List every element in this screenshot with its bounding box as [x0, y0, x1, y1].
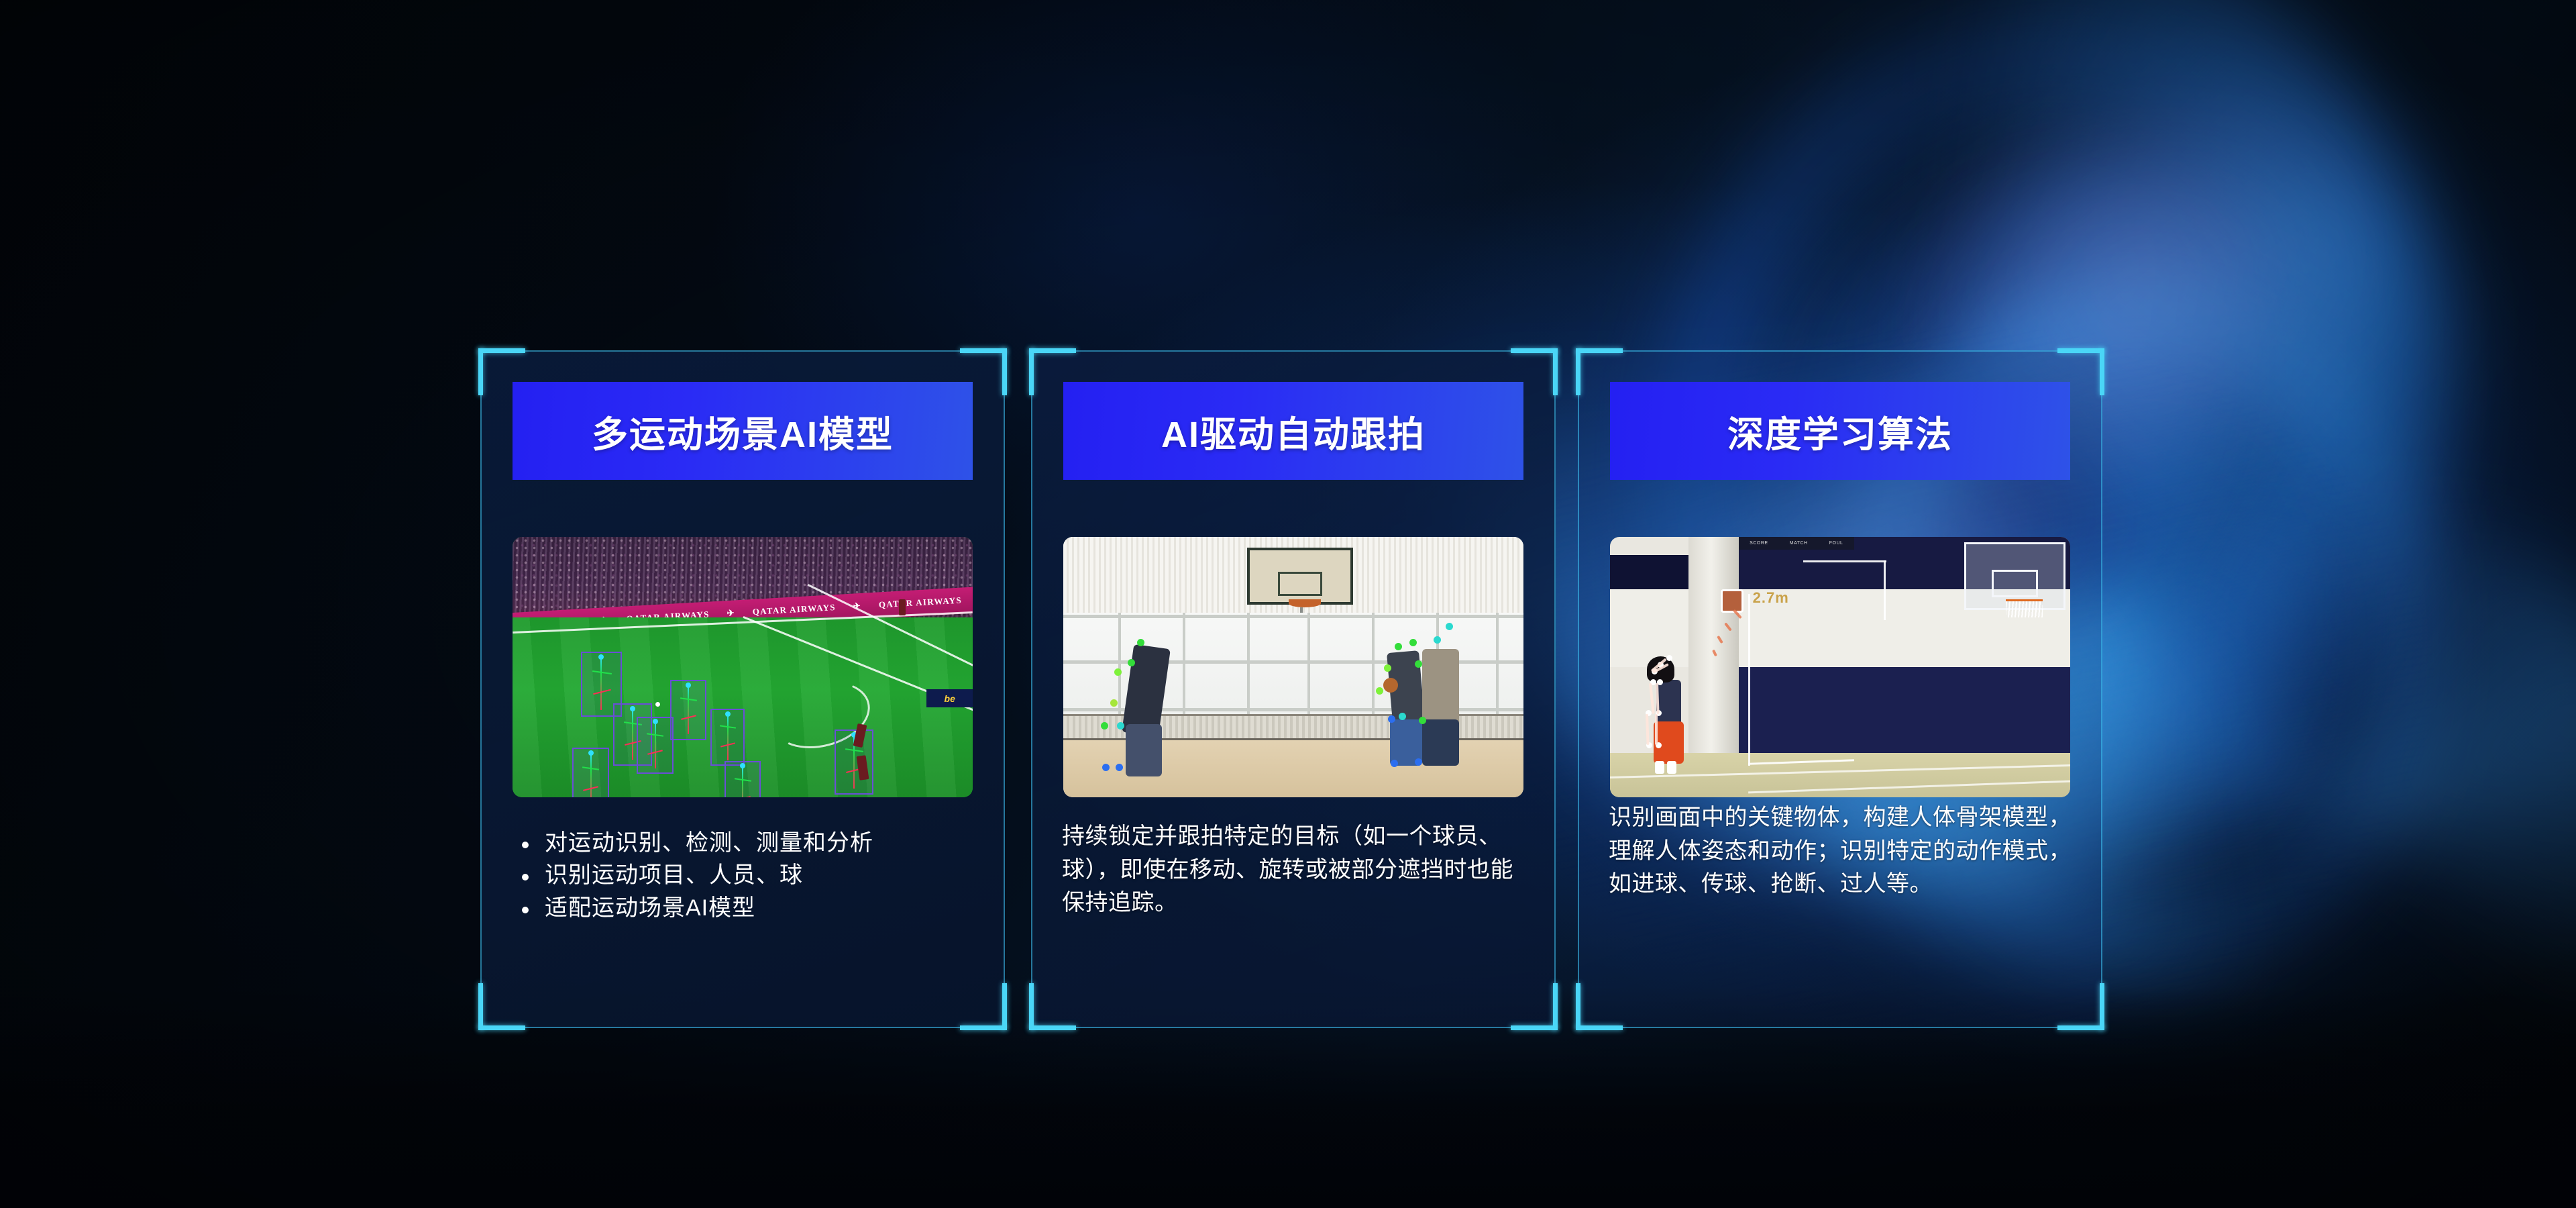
card-title-banner: 深度学习算法	[1610, 382, 2070, 480]
scoreboard-label-foul: FOUL	[1829, 541, 1843, 546]
backboard	[1247, 548, 1353, 605]
card-title-text: 多运动场景AI模型	[592, 405, 894, 458]
basketball-icon	[1383, 678, 1398, 693]
scoreboard-label-score: SCORE	[1750, 541, 1768, 546]
card-thumbnail-soccer-detection: QATAR AIRWAYS ✈QATAR AIRWAYS ✈QATAR AIRW…	[513, 537, 973, 797]
card-thumbnail-basketball-pose	[1063, 537, 1523, 797]
hoop-icon	[1289, 599, 1321, 607]
card-title-text: 深度学习算法	[1727, 405, 1953, 458]
measurement-label: 2.7m	[1753, 589, 1789, 607]
card-body: 对运动识别、检测、测量和分析 识别运动项目、人员、球 适配运动场景AI模型	[510, 827, 979, 924]
card-body: 识别画面中的关键物体，构建人体骨架模型，理解人体姿态和动作；识别特定的动作模式，…	[1609, 801, 2078, 901]
ad-text-3: QATAR AIRWAYS	[752, 603, 836, 618]
list-item: 适配运动场景AI模型	[510, 892, 979, 924]
feature-card-row: 多运动场景AI模型 QATAR AIRWAYS ✈QATAR AIRWAYS ✈…	[0, 0, 2576, 1208]
card-title-text: AI驱动自动跟拍	[1161, 405, 1426, 458]
list-item: 对运动识别、检测、测量和分析	[510, 827, 979, 859]
list-item: 识别运动项目、人员、球	[510, 859, 979, 891]
card-title-banner: 多运动场景AI模型	[513, 382, 973, 480]
card-description: 识别画面中的关键物体，构建人体骨架模型，理解人体姿态和动作；识别特定的动作模式，…	[1609, 801, 2078, 901]
tracked-ball-bbox	[1721, 589, 1743, 613]
feature-card-ai-auto-tracking[interactable]: AI驱动自动跟拍	[1031, 350, 1556, 1028]
scoreboard: SCORE MATCH FOUL	[1739, 537, 1854, 550]
card-body: 持续锁定并跟拍特定的目标（如一个球员、球），即使在移动、旋转或被部分遮挡时也能保…	[1062, 820, 1532, 920]
feature-card-deep-learning-algorithm[interactable]: 深度学习算法 SCORE MATCH FOUL	[1578, 350, 2102, 1028]
sponsor-board: be	[926, 689, 973, 707]
hoop-net-icon	[2006, 599, 2043, 617]
feature-card-multi-sport-ai-model[interactable]: 多运动场景AI模型 QATAR AIRWAYS ✈QATAR AIRWAYS ✈…	[480, 350, 1005, 1028]
card-description: 持续锁定并跟拍特定的目标（如一个球员、球），即使在移动、旋转或被部分遮挡时也能保…	[1062, 820, 1532, 920]
scoreboard-label-match: MATCH	[1790, 541, 1808, 546]
card-thumbnail-shot-measurement: SCORE MATCH FOUL 2.7m	[1610, 537, 2070, 797]
feature-bullet-list: 对运动识别、检测、测量和分析 识别运动项目、人员、球 适配运动场景AI模型	[510, 827, 979, 924]
card-title-banner: AI驱动自动跟拍	[1063, 382, 1523, 480]
ad-text-4: QATAR AIRWAYS	[878, 595, 962, 611]
